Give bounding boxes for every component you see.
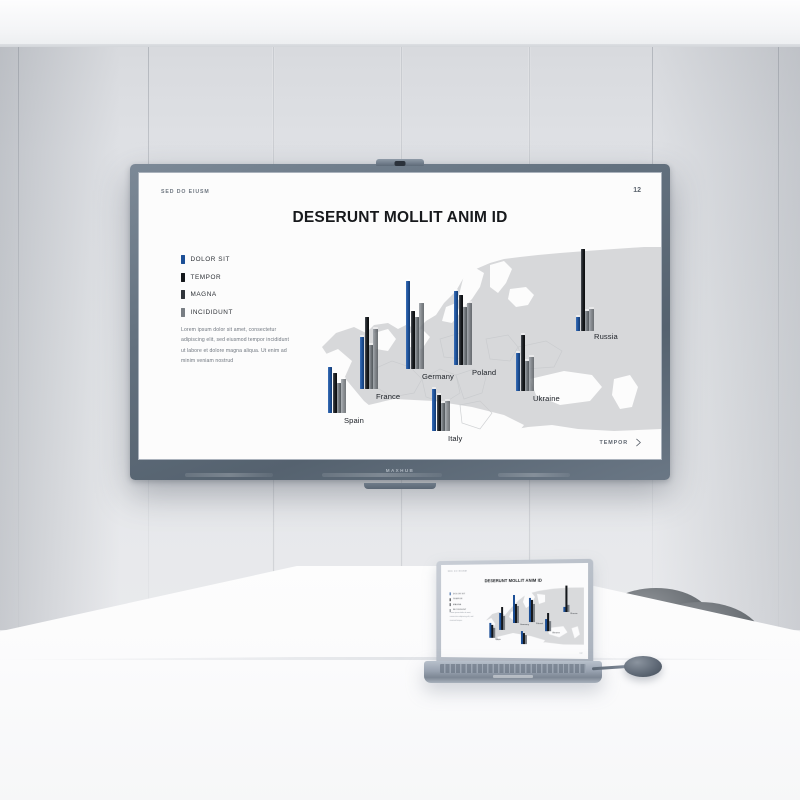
legend-swatch-icon: [181, 308, 185, 317]
laptop-keyboard[interactable]: [440, 664, 586, 673]
bar-france-dolor-sit: [360, 337, 364, 389]
bar-germany-incididunt: [419, 303, 423, 369]
mini-country-label-germany: Germany: [520, 624, 529, 626]
mini-slide-body: Lorem ipsum dolor sit amet, consectetur …: [450, 612, 477, 623]
ceiling: [0, 0, 800, 46]
wall-shading-right: [650, 47, 800, 630]
mini-legend-swatch-icon: [450, 598, 451, 601]
camera-lens-icon: [395, 161, 406, 166]
bar-poland-dolor-sit: [454, 291, 458, 365]
bar-ukraine-incididunt: [529, 357, 533, 391]
slide-body-text: Lorem ipsum dolor sit amet, consectetur …: [181, 325, 293, 367]
mini-country-label-spain: Spain: [495, 639, 501, 641]
country-label-ukraine: Ukraine: [533, 394, 560, 403]
bar-ukraine-tempor: [521, 335, 525, 391]
chin-detail: [498, 473, 570, 477]
country-label-russia: Russia: [594, 332, 618, 341]
bar-spain-incididunt: [341, 379, 345, 413]
chin-detail: [322, 473, 442, 477]
mini-country-label-poland: Poland: [536, 623, 543, 625]
legend-label: DOLOR SIT: [191, 256, 230, 263]
mini-slide-page-number: 12: [580, 653, 583, 655]
display-chin: MAXHUB: [130, 460, 670, 480]
display-screen[interactable]: SED DO EIUSM 12 DESERUNT MOLLIT ANIM ID …: [138, 172, 662, 460]
country-label-germany: Germany: [422, 372, 454, 381]
legend-swatch-icon: [181, 255, 185, 264]
chevron-right-icon[interactable]: [634, 438, 643, 447]
europe-map-chart: Spain France: [314, 229, 662, 451]
chart-legend: DOLOR SIT TEMPOR MAGNA INCIDIDUNT: [181, 255, 301, 325]
bar-italy-tempor: [437, 395, 441, 431]
mini-europe-map-chart: Spain Germany Po: [483, 581, 583, 650]
mini-country-label-ukraine: Ukraine: [552, 632, 560, 634]
laptop-screen[interactable]: SED DO EIUSM DESERUNT MOLLIT ANIM ID DOL…: [441, 563, 588, 659]
wall-shading-left: [0, 47, 120, 630]
display-vent: [364, 483, 436, 489]
legend-item: MAGNA: [181, 290, 301, 299]
mini-legend-label: TEMPOR: [453, 598, 463, 600]
legend-swatch-icon: [181, 273, 185, 282]
bar-ukraine-dolor-sit: [516, 353, 520, 391]
slide-page-number: 12: [633, 187, 641, 194]
bar-italy-incididunt: [445, 401, 449, 431]
legend-label: MAGNA: [191, 291, 217, 298]
slide-title: DESERUNT MOLLIT ANIM ID: [139, 209, 661, 227]
mini-legend-label: MAGNA: [453, 604, 461, 606]
bar-russia-incididunt: [589, 309, 593, 331]
legend-label: INCIDIDUNT: [191, 309, 233, 316]
bar-germany-tempor: [411, 311, 415, 369]
country-label-poland: Poland: [472, 368, 496, 377]
mini-slide-eyebrow: SED DO EIUSM: [448, 571, 467, 573]
mini-legend-swatch-icon: [450, 592, 451, 595]
mini-bar-ukraine-3: [549, 621, 551, 631]
bar-france-incididunt: [373, 329, 377, 389]
laptop-trackpad[interactable]: [493, 675, 533, 678]
slide-eyebrow: SED DO EIUSM: [161, 189, 210, 195]
mini-legend-swatch-icon: [450, 603, 451, 606]
mini-bar-france-3: [503, 616, 504, 630]
mini-bar-russia-3: [567, 605, 569, 612]
conference-room-scene: SED DO EIUSM 12 DESERUNT MOLLIT ANIM ID …: [0, 0, 800, 800]
mini-country-label-russia: Russia: [571, 613, 578, 615]
bar-spain-dolor-sit: [328, 367, 332, 413]
laptop-base: [424, 661, 602, 683]
legend-item: DOLOR SIT: [181, 255, 301, 264]
slide-footer[interactable]: TEMPOR: [600, 438, 643, 447]
country-label-italy: Italy: [448, 434, 462, 443]
mini-legend-label: DOLOR SIT: [453, 593, 466, 595]
legend-item: TEMPOR: [181, 273, 301, 282]
bar-italy-dolor-sit: [432, 389, 436, 431]
mini-bar-spain-3: [493, 628, 494, 638]
mini-bar-italy-3: [525, 635, 526, 644]
laptop[interactable]: SED DO EIUSM DESERUNT MOLLIT ANIM ID DOL…: [424, 560, 602, 690]
laptop-lid: SED DO EIUSM DESERUNT MOLLIT ANIM ID DOL…: [436, 559, 593, 665]
mini-country-bar-clusters: Spain Germany Po: [483, 581, 583, 650]
slide-footer-label: TEMPOR: [600, 440, 628, 446]
country-label-spain: Spain: [344, 416, 364, 425]
bar-germany-dolor-sit: [406, 281, 410, 369]
mini-bar-poland-3: [533, 604, 535, 622]
bar-spain-tempor: [333, 373, 337, 413]
country-bar-clusters: Spain France: [314, 229, 662, 451]
presentation-slide: SED DO EIUSM 12 DESERUNT MOLLIT ANIM ID …: [139, 173, 661, 459]
legend-label: TEMPOR: [191, 274, 222, 281]
legend-swatch-icon: [181, 290, 185, 299]
legend-item: INCIDIDUNT: [181, 308, 301, 317]
chin-detail: [185, 473, 273, 477]
bar-france-tempor: [365, 317, 369, 389]
mini-bar-germany-3: [517, 606, 518, 623]
display-brandmark: MAXHUB: [386, 468, 415, 473]
conference-mic-puck[interactable]: [624, 656, 662, 677]
mini-legend-label: INCIDIDUNT: [453, 609, 466, 611]
bar-russia-tempor: [581, 249, 585, 331]
mini-legend-item: TEMPOR: [450, 598, 467, 601]
mini-legend-item: DOLOR SIT: [450, 592, 467, 595]
country-label-france: France: [376, 392, 400, 401]
interactive-display[interactable]: SED DO EIUSM 12 DESERUNT MOLLIT ANIM ID …: [130, 164, 670, 480]
bar-poland-tempor: [459, 295, 463, 365]
bar-russia-dolor-sit: [576, 317, 580, 331]
mini-legend-item: MAGNA: [450, 603, 467, 606]
bar-poland-incididunt: [467, 303, 471, 365]
